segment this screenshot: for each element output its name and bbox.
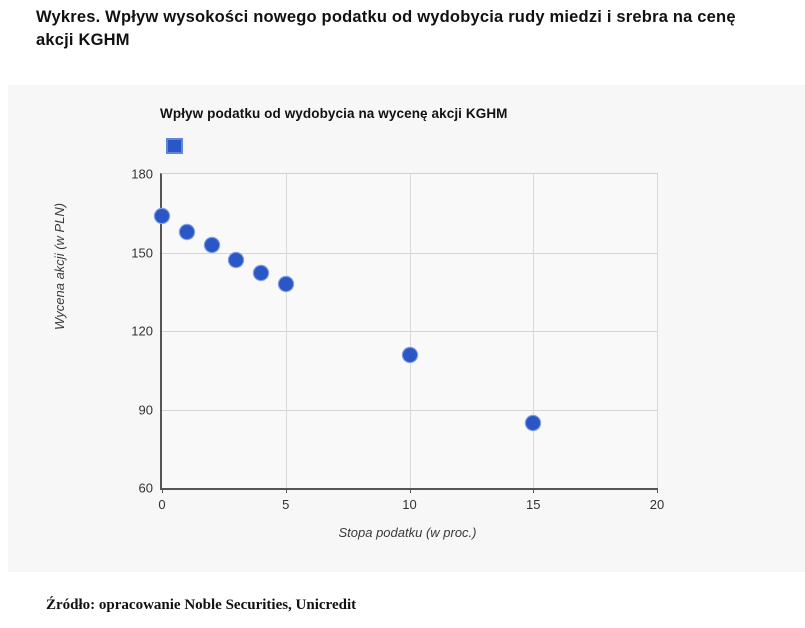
- chart-figure-panel: Wpływ podatku od wydobycia na wycenę akc…: [8, 85, 805, 572]
- x-axis-tick-mark: [657, 488, 658, 493]
- x-axis-tick-label: 15: [526, 497, 540, 512]
- y-axis-tick-label: 150: [131, 245, 153, 260]
- x-axis-tick-label: 0: [158, 497, 165, 512]
- scatter-data-point: [155, 209, 169, 223]
- x-axis-tick-mark: [533, 488, 534, 493]
- source-caption: Źródło: opracowanie Noble Securities, Un…: [46, 597, 356, 614]
- x-axis-tick-label: 10: [402, 497, 416, 512]
- x-gridline: [533, 174, 534, 488]
- x-gridline: [410, 174, 411, 488]
- blue-square-marker-icon: [166, 138, 183, 154]
- y-axis-title: Wycena akcji (w PLN): [52, 203, 67, 330]
- y-axis-tick-label: 120: [131, 324, 153, 339]
- x-axis-title: Stopa podatku (w proc.): [160, 525, 655, 540]
- x-axis-tick-label: 20: [650, 497, 664, 512]
- scatter-data-point: [254, 266, 268, 280]
- scatter-data-point: [279, 277, 293, 291]
- x-axis-tick-mark: [162, 488, 163, 493]
- y-axis-tick-label: 90: [139, 402, 153, 417]
- x-axis-tick-mark: [410, 488, 411, 493]
- x-axis-tick-label: 5: [282, 497, 289, 512]
- y-axis-tick-label: 180: [131, 167, 153, 182]
- scatter-data-point: [526, 416, 540, 430]
- scatter-data-point: [180, 225, 194, 239]
- x-gridline: [657, 174, 658, 488]
- plot-area: 609012015018005101520: [160, 173, 658, 490]
- scatter-data-point: [205, 238, 219, 252]
- x-gridline: [286, 174, 287, 488]
- scatter-data-point: [403, 348, 417, 362]
- page-title: Wykres. Wpływ wysokości nowego podatku o…: [36, 6, 736, 53]
- scatter-data-point: [229, 253, 243, 267]
- chart-title: Wpływ podatku od wydobycia na wycenę akc…: [160, 106, 508, 121]
- x-axis-tick-mark: [286, 488, 287, 493]
- y-axis-tick-label: 60: [139, 481, 153, 496]
